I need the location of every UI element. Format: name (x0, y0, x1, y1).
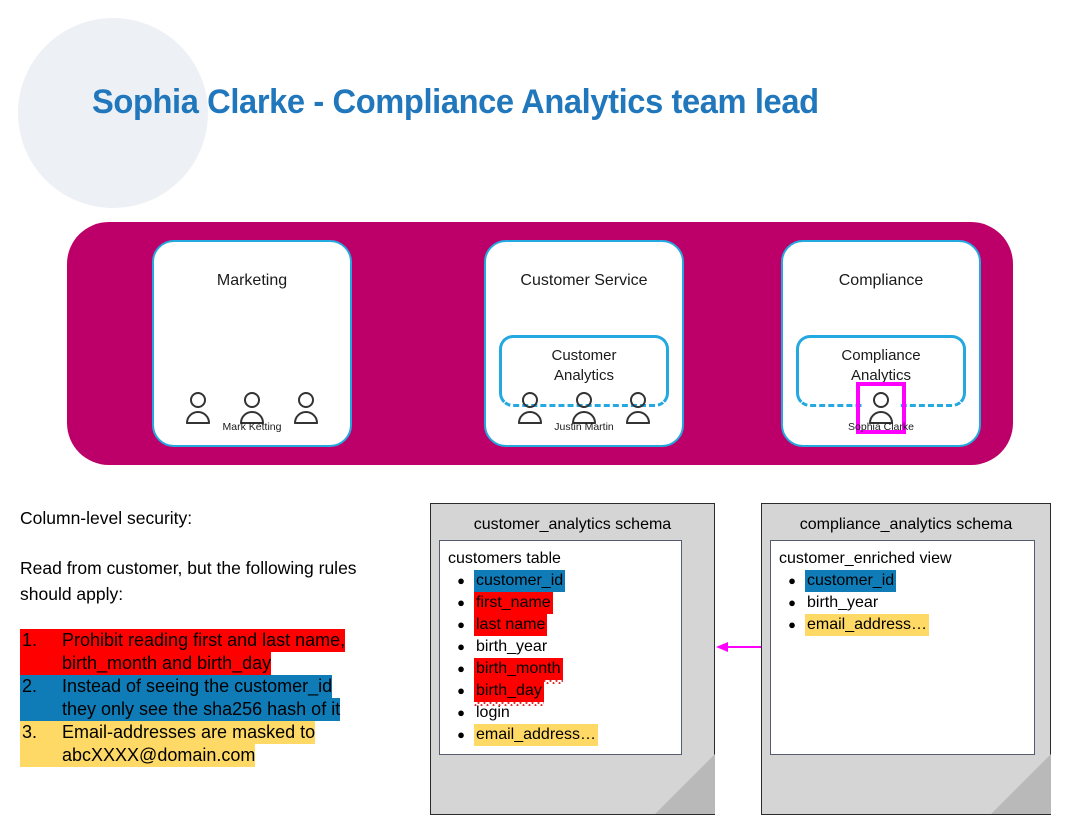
person-avatar (516, 391, 544, 425)
field-list: ● customer_id ● birth_year ● email_addre… (779, 570, 1026, 636)
field-row[interactable]: ● customer_id (779, 570, 1026, 592)
field-label: birth_day (474, 680, 544, 702)
person-avatar (238, 391, 266, 425)
document-compliance-analytics-schema[interactable]: compliance_analytics schema customer_enr… (761, 503, 1051, 815)
bullet-icon: ● (448, 614, 474, 636)
rule-text: Instead of seeing the customer_id they o… (62, 675, 412, 721)
rule-text-line-2: abcXXXX@domain.com (62, 744, 255, 767)
person-icon (516, 391, 544, 425)
person-icon (867, 391, 895, 425)
bullet-icon: ● (448, 702, 474, 724)
rule-number: 2. (20, 675, 62, 721)
field-row[interactable]: ● email_address… (448, 724, 673, 746)
rule-item: 1. Prohibit reading first and last name,… (20, 629, 412, 675)
notes-panel: Column-level security: Read from custome… (20, 505, 412, 767)
field-label: birth_year (805, 592, 880, 614)
bullet-icon: ● (448, 724, 474, 746)
bullet-icon: ● (779, 570, 805, 592)
person-icon (292, 391, 320, 425)
department-owner: Sophia Clarke (783, 421, 979, 433)
table-name: customers table (448, 550, 673, 568)
document-content-panel: customers table ● customer_id ● first_na… (439, 540, 682, 755)
rule-text: Email-addresses are masked to abcXXXX@do… (62, 721, 412, 767)
field-label: birth_year (474, 636, 549, 658)
field-row[interactable]: ● birth_year (448, 636, 673, 658)
field-list: ● customer_id ● first_name ● last name ●… (448, 570, 673, 746)
organization-panel: Marketing (67, 222, 1013, 465)
rules-list: 1. Prohibit reading first and last name,… (20, 629, 412, 767)
person-icon (238, 391, 266, 425)
notes-intro-line-1: Read from customer, but the following ru… (20, 555, 412, 581)
rule-item: 3. Email-addresses are masked to abcXXXX… (20, 721, 412, 767)
field-row[interactable]: ● birth_year (779, 592, 1026, 614)
department-title: Compliance (783, 271, 979, 291)
bullet-icon: ● (448, 658, 474, 680)
analytics-group-label: Customer Analytics (502, 346, 666, 386)
rule-number: 1. (20, 629, 62, 675)
department-owner: Justin Martin (486, 421, 682, 433)
document-title: compliance_analytics schema (761, 516, 1051, 534)
department-card-marketing[interactable]: Marketing (152, 240, 352, 447)
person-icon (624, 391, 652, 425)
field-row[interactable]: ● first_name (448, 592, 673, 614)
bullet-icon: ● (448, 680, 474, 702)
field-label: birth_month (474, 658, 563, 680)
bullet-icon: ● (779, 592, 805, 614)
field-label: email_address… (805, 614, 929, 636)
person-icon (184, 391, 212, 425)
field-row[interactable]: ● last name (448, 614, 673, 636)
page-title: Sophia Clarke - Compliance Analytics tea… (92, 83, 819, 122)
document-content-panel: customer_enriched view ● customer_id ● b… (770, 540, 1035, 755)
notes-heading: Column-level security: (20, 505, 412, 531)
bullet-icon: ● (448, 570, 474, 592)
department-card-compliance[interactable]: Compliance Compliance Analytics Sophia C… (781, 240, 981, 447)
department-card-customer-service[interactable]: Customer Service Customer Analytics (484, 240, 684, 447)
field-label: customer_id (805, 570, 896, 592)
field-row[interactable]: ● email_address… (779, 614, 1026, 636)
field-label: customer_id (474, 570, 565, 592)
department-title: Marketing (154, 271, 350, 291)
rule-text-line-1: Email-addresses are masked to (62, 721, 315, 744)
rule-text: Prohibit reading first and last name, bi… (62, 629, 412, 675)
rule-text-line-1: Prohibit reading first and last name, (62, 629, 345, 652)
person-icon (570, 391, 598, 425)
field-row[interactable]: ● customer_id (448, 570, 673, 592)
rule-number: 3. (20, 721, 62, 767)
notes-intro-line-2: should apply: (20, 581, 412, 607)
rule-text-line-1: Instead of seeing the customer_id (62, 675, 332, 698)
analytics-group-label: Compliance Analytics (799, 346, 963, 386)
field-label: first_name (474, 592, 553, 614)
document-title: customer_analytics schema (430, 516, 715, 534)
spacer (20, 531, 412, 555)
rule-text-line-2: birth_month and birth_day (62, 652, 271, 675)
bullet-icon: ● (448, 592, 474, 614)
field-label: last name (474, 614, 547, 636)
person-avatar (184, 391, 212, 425)
field-label: email_address… (474, 724, 598, 746)
bullet-icon: ● (779, 614, 805, 636)
rule-text-line-2: they only see the sha256 hash of it (62, 698, 340, 721)
document-customer-analytics-schema[interactable]: customer_analytics schema customers tabl… (430, 503, 715, 815)
rule-item: 2. Instead of seeing the customer_id the… (20, 675, 412, 721)
person-avatar (292, 391, 320, 425)
department-title: Customer Service (486, 271, 682, 291)
person-avatar (570, 391, 598, 425)
person-avatar (624, 391, 652, 425)
bullet-icon: ● (448, 636, 474, 658)
view-name: customer_enriched view (779, 550, 952, 568)
field-row[interactable]: ● birth_month (448, 658, 673, 680)
department-owner: Mark Ketting (154, 421, 350, 433)
